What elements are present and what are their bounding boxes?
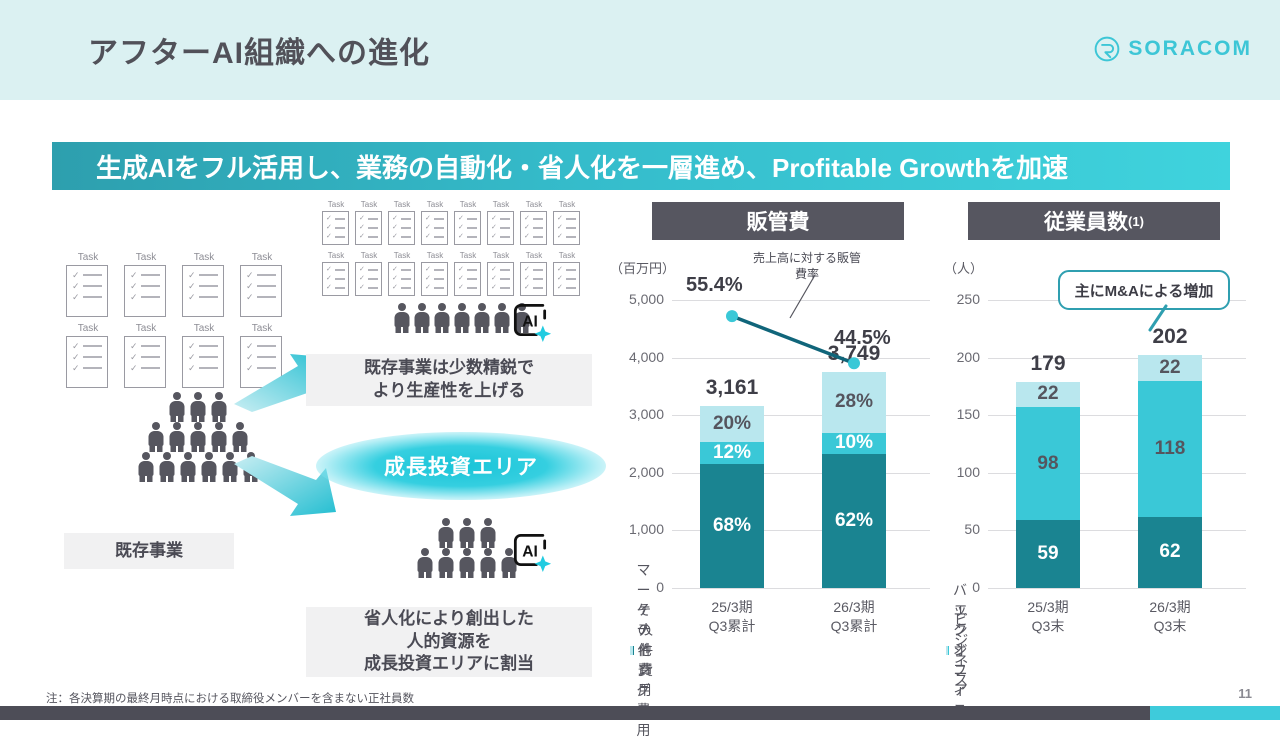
growth-investment-area-badge: 成長投資エリア [316,432,606,500]
existing-business-label: 既存事業 [64,533,234,569]
person-icon [452,303,471,333]
task-card: Task✓✓✓ [487,200,515,245]
legend-label: バックオフィス [953,580,974,720]
task-card-label: Task [124,323,168,334]
task-card-body: ✓✓✓ [454,211,481,245]
slide-header: アフターAI組織への進化 SORACOM [0,0,1280,100]
bar-segment-label: 22 [1159,357,1180,379]
task-card: Task✓✓✓ [454,251,482,296]
bar-segment: 98 [1016,407,1080,520]
bar-segment: 22 [1138,355,1202,380]
ai-sparkle-icon-2: AI [508,528,552,572]
task-card-label: Task [520,200,548,209]
y-axis-tick-label: 1,000 [618,521,664,537]
task-card-body: ✓✓✓ [388,211,415,245]
task-card-label: Task [182,323,226,334]
task-card-label: Task [66,252,110,263]
task-card: Task✓✓✓ [355,200,383,245]
bar-segment-label: 10% [835,432,873,454]
task-card: Task✓✓✓ [182,252,226,317]
callout-pointer-icon [1136,304,1172,332]
y-axis-tick-label: 250 [934,291,980,307]
task-card: Task✓✓✓ [421,251,449,296]
chart-headcount-title: 従業員数(1) [968,202,1220,240]
y-axis-tick-label: 200 [934,349,980,365]
person-icon [457,548,477,578]
bar-segment-label: 28% [835,391,873,413]
person-row [108,422,288,452]
person-icon [167,422,187,452]
bar-segment: 22 [1016,382,1080,407]
task-card: Task✓✓✓ [182,323,226,388]
bar-total-label: 3,161 [678,376,786,400]
legend-swatch [946,646,948,655]
chart-headcount-unit: （人） [944,258,983,277]
person-icon [436,548,456,578]
reallocated-people [412,518,522,578]
person-icon [188,392,208,422]
bar-segment-label: 62 [1159,541,1180,563]
footnote: 注：各決算期の最終月時点における取締役メンバーを含まない正社員数 [46,690,414,706]
soracom-logo: SORACOM [1094,36,1252,62]
task-card-label: Task [487,200,515,209]
legend-item[interactable]: その他費用 [630,600,658,700]
person-icon [478,548,498,578]
person-icon [157,452,177,482]
y-axis-tick-label: 150 [934,406,980,422]
task-card: Task✓✓✓ [66,252,110,317]
chart-sga-unit: （百万円） [610,258,675,277]
task-card-body: ✓✓✓ [322,211,349,245]
person-icon [178,452,198,482]
y-axis-tick-label: 3,000 [618,406,664,422]
task-card-label: Task [388,251,416,260]
task-card-label: Task [421,251,449,260]
person-icon [412,303,431,333]
task-card-label: Task [421,200,449,209]
person-icon [432,303,451,333]
task-card-label: Task [487,251,515,260]
y-axis-tick-label: 100 [934,464,980,480]
headline-banner: 生成AIをフル活用し、業務の自動化・省人化を一層進め、Profitable Gr… [52,142,1230,190]
lean-team-message-box: 既存事業は少数精鋭で より生産性を上げる [306,354,592,406]
legend-swatch [630,646,633,655]
task-card-body: ✓✓✓ [182,265,224,317]
task-card-body: ✓✓✓ [240,265,282,317]
bar-segment-label: 12% [713,442,751,464]
person-icon [188,422,208,452]
page-title: アフターAI組織への進化 [88,28,430,72]
task-card-label: Task [553,251,581,260]
bar-segment-label: 20% [713,413,751,435]
task-card: Task✓✓✓ [520,200,548,245]
task-card-body: ✓✓✓ [553,211,580,245]
legend-item[interactable]: バックオフィス [946,580,974,720]
bar-segment-label: 59 [1037,543,1058,565]
task-card-label: Task [553,200,581,209]
task-card-label: Task [240,323,284,334]
task-card-body: ✓✓✓ [322,262,349,296]
ai-sparkle-icon: AI [508,298,552,342]
task-card-label: Task [66,323,110,334]
task-card-label: Task [182,252,226,263]
task-card-body: ✓✓✓ [421,262,448,296]
headline-banner-text: 生成AIをフル活用し、業務の自動化・省人化を一層進め、Profitable Gr… [52,148,1068,185]
task-card-body: ✓✓✓ [355,262,382,296]
task-card-body: ✓✓✓ [553,262,580,296]
task-card: Task✓✓✓ [553,200,581,245]
task-card-body: ✓✓✓ [66,336,108,388]
sga-ratio-label: 55.4% [686,274,743,297]
person-icon [199,452,219,482]
svg-text:AI: AI [522,313,538,330]
chart-sga-title: 販管費 [652,202,904,240]
bar-segment: 28% [822,372,886,432]
task-card-label: Task [355,200,383,209]
sga-ratio-label: 44.5% [834,327,891,350]
task-card: Task✓✓✓ [322,251,350,296]
bar-segment: 59 [1016,520,1080,588]
task-card: Task✓✓✓ [553,251,581,296]
person-icon [167,392,187,422]
person-icon [146,422,166,452]
person-icon [392,303,411,333]
y-axis-tick-label: 50 [934,521,980,537]
task-card-label: Task [124,252,168,263]
person-row [412,518,522,548]
person-row [412,548,522,578]
person-icon [457,518,477,548]
y-axis-tick-label: 2,000 [618,464,664,480]
task-card-label: Task [454,200,482,209]
bar-segment: 20% [700,406,764,442]
task-card: Task✓✓✓ [124,323,168,388]
bottom-bar [0,706,1150,720]
sga-ratio-annotation: 売上高に対する販管費率 [752,251,862,282]
bar-segment-label: 62% [835,510,873,532]
task-card: Task✓✓✓ [388,251,416,296]
x-axis-category-label: 26/3期Q3末 [1106,598,1234,636]
y-axis-tick-label: 5,000 [618,291,664,307]
bottom-bar-accent [1150,706,1280,720]
task-card-label: Task [240,252,284,263]
task-card-body: ✓✓✓ [66,265,108,317]
growth-investment-area-label: 成長投資エリア [384,451,538,481]
bar-segment-label: 98 [1037,453,1058,475]
task-card-label: Task [388,200,416,209]
x-axis-category-label: 25/3期Q3累計 [668,598,796,636]
task-card-body: ✓✓✓ [182,336,224,388]
bar-segment-label: 118 [1155,438,1186,460]
task-card-label: Task [454,251,482,260]
task-card-body: ✓✓✓ [487,262,514,296]
person-icon [230,422,250,452]
bar-segment: 62% [822,454,886,588]
task-card-body: ✓✓✓ [355,211,382,245]
svg-text:AI: AI [522,543,538,560]
person-icon [478,518,498,548]
gridline [672,300,930,301]
soracom-logo-text: SORACOM [1128,37,1252,61]
bar-segment: 10% [822,433,886,455]
bar-segment: 12% [700,442,764,464]
y-axis-tick-label: 4,000 [618,349,664,365]
reallocation-message-box: 省人化により創出した 人的資源を 成長投資エリアに割当 [306,607,592,677]
bar-segment-label: 22 [1037,383,1058,405]
task-card-label: Task [322,200,350,209]
task-card-body: ✓✓✓ [124,265,166,317]
task-card-body: ✓✓✓ [388,262,415,296]
task-card-label: Task [322,251,350,260]
task-card-body: ✓✓✓ [520,211,547,245]
soracom-mark-icon [1094,36,1120,62]
gridline [672,588,930,589]
task-card: Task✓✓✓ [520,251,548,296]
x-axis-category-label: 26/3期Q3累計 [790,598,918,636]
task-card: Task✓✓✓ [454,200,482,245]
task-card-body: ✓✓✓ [520,262,547,296]
right-task-grid: Task✓✓✓Task✓✓✓Task✓✓✓Task✓✓✓Task✓✓✓Task✓… [322,200,583,296]
task-card: Task✓✓✓ [66,323,110,388]
task-card: Task✓✓✓ [240,252,284,317]
bar-segment-label: 68% [713,515,751,537]
x-axis-category-label: 25/3期Q3末 [984,598,1112,636]
task-card-body: ✓✓✓ [487,211,514,245]
task-card-label: Task [520,251,548,260]
bar-segment: 118 [1138,381,1202,517]
task-card: Task✓✓✓ [487,251,515,296]
page-number: 11 [1238,686,1252,701]
gridline [988,588,1246,589]
bar-total-label: 179 [994,352,1102,376]
task-card-body: ✓✓✓ [421,211,448,245]
task-card: Task✓✓✓ [421,200,449,245]
task-card-body: ✓✓✓ [454,262,481,296]
task-card: Task✓✓✓ [355,251,383,296]
person-icon [436,518,456,548]
person-icon [209,422,229,452]
task-card-body: ✓✓✓ [124,336,166,388]
person-icon [209,392,229,422]
bar-segment: 68% [700,464,764,588]
task-card-label: Task [355,251,383,260]
task-card: Task✓✓✓ [124,252,168,317]
person-icon [415,548,435,578]
task-card: Task✓✓✓ [388,200,416,245]
person-icon [473,303,492,333]
person-icon [136,452,156,482]
bar-segment: 62 [1138,517,1202,588]
task-card: Task✓✓✓ [322,200,350,245]
legend-label: その他費用 [638,600,658,700]
